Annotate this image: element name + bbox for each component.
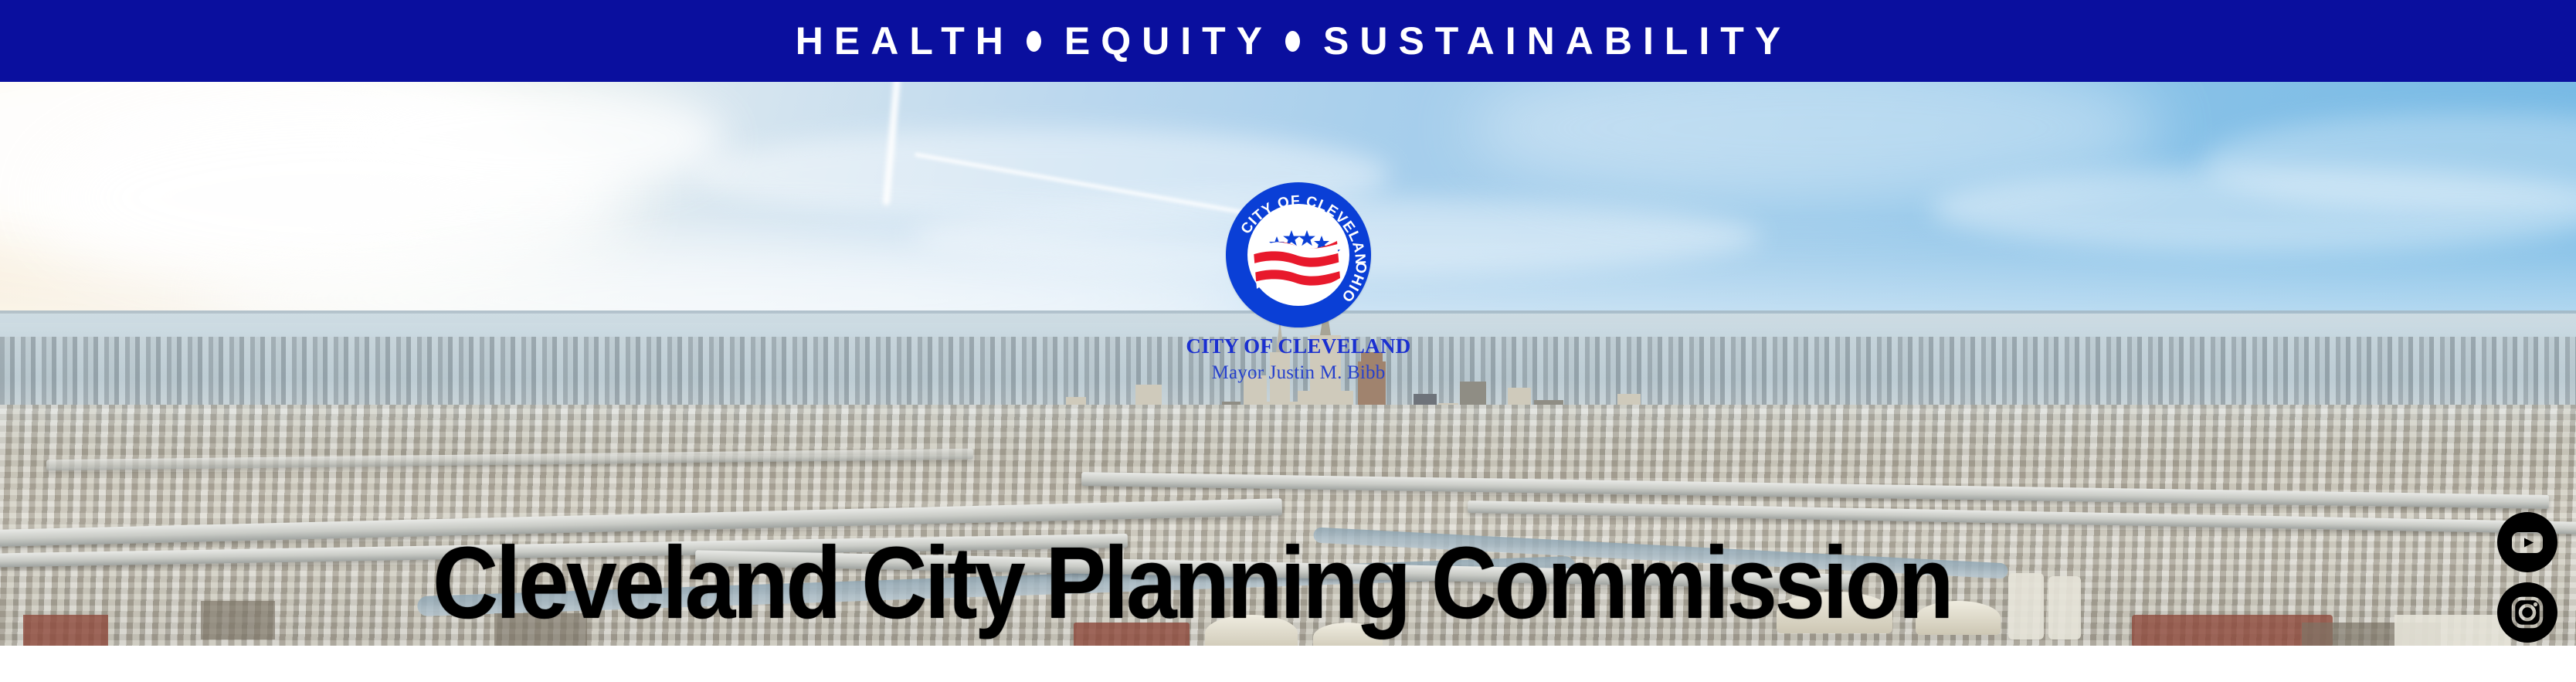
bullet-dot-icon-1 [1027, 31, 1041, 52]
tagline-banner: HEALTHEQUITYSUSTAINABILITY [0, 0, 2576, 82]
tagline-word-equity: EQUITY [1064, 19, 1273, 63]
youtube-icon[interactable] [2497, 512, 2557, 572]
hero-banner-photo: CITY OF CLEVELAND OHIO [0, 82, 2576, 646]
page-bottom-whitespace [0, 646, 2576, 682]
building-block [23, 615, 108, 646]
city-seal-icon: CITY OF CLEVELAND OHIO [1226, 182, 1371, 327]
social-link-instagram[interactable] [2497, 582, 2557, 643]
silo [2048, 576, 2081, 640]
page-title: Cleveland City Planning Commission [433, 532, 1951, 634]
city-logo-block: CITY OF CLEVELAND OHIO [1144, 182, 1453, 391]
tagline-word-health: HEALTH [796, 19, 1014, 63]
building-block [201, 601, 275, 640]
page-root: HEALTHEQUITYSUSTAINABILITY [0, 0, 2576, 682]
social-link-youtube[interactable] [2497, 512, 2557, 572]
instagram-icon[interactable] [2497, 582, 2557, 643]
tagline-text: HEALTHEQUITYSUSTAINABILITY [796, 22, 1791, 60]
tagline-word-sustainability: SUSTAINABILITY [1323, 19, 1791, 63]
seal-flag-icon [1247, 204, 1349, 306]
social-links [2497, 512, 2557, 646]
organization-name: CITY OF CLEVELAND [1144, 335, 1453, 358]
building-block [2394, 615, 2510, 646]
mayor-name: Mayor Justin M. Bibb [1144, 362, 1453, 384]
silo [2008, 573, 2044, 640]
bullet-dot-icon-2 [1285, 31, 1300, 52]
